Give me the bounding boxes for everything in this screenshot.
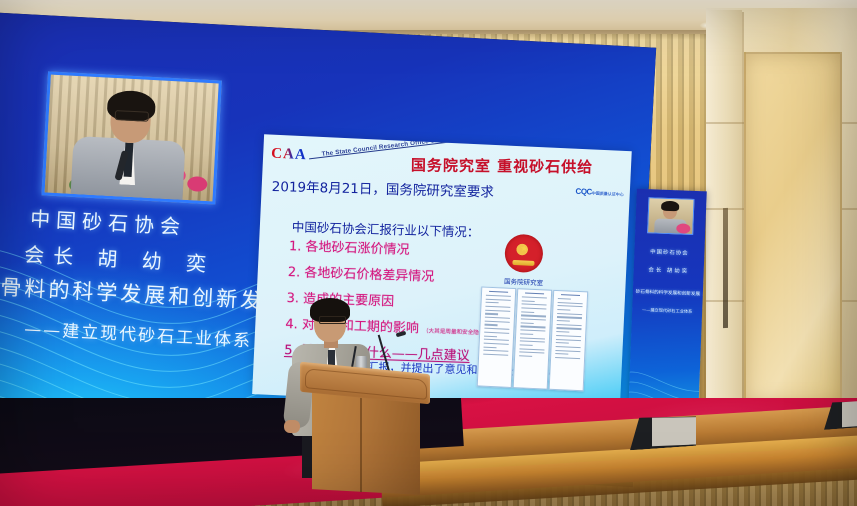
podium-body <box>312 391 420 495</box>
marble-recessed-panel <box>744 52 842 404</box>
bullet-number: 1. <box>289 239 302 254</box>
led2-speaker-title: 会长 胡幼奕 <box>634 265 704 276</box>
marble-groove <box>723 208 728 328</box>
emblem-star-icon: ★ <box>520 244 528 253</box>
document-page <box>549 290 589 392</box>
led2-topic-line: 砂石骨料的科学发展和创新发展 <box>633 289 703 298</box>
cqc-logo: CQC中国质量认证中心 <box>575 187 624 198</box>
bullet-text: 各地砂石价格差异情况 <box>304 266 434 285</box>
presenter-hand <box>284 420 300 433</box>
caa-logo: CAA <box>271 146 307 165</box>
led2-video-inset <box>647 197 694 235</box>
stage-monitor-speaker-face <box>842 400 857 428</box>
list-item: 2. 各地砂石价格差异情况 <box>288 261 508 287</box>
slide-header-chinese: 国务院究室 重视砂石供给 <box>411 154 593 177</box>
emblem-base-icon <box>513 260 534 266</box>
cqc-logo-subtext: 中国质量认证中心 <box>592 190 624 196</box>
document-page <box>513 288 553 390</box>
slide-line-1: 2019年8月21日，国务院研究室要求 <box>272 175 495 201</box>
cqc-logo-text: CQC <box>575 187 592 197</box>
conference-photo-scene: 中国砂石协会 会长 胡 幼 奕 砂石骨料的科学发展和创新发展 ——建立现代砂石工… <box>0 0 857 506</box>
document-images <box>477 286 589 389</box>
bullet-text: 各地砂石涨价情况 <box>305 240 409 258</box>
led-video-inset <box>41 71 221 204</box>
document-page <box>477 286 517 388</box>
podium <box>300 368 430 492</box>
podium-seam <box>360 398 362 492</box>
led2-subtitle-line: ——建立现代砂石工业体系 <box>632 307 702 316</box>
bullet-number: 2. <box>288 265 301 280</box>
led2-org-name: 中国砂石协会 <box>634 247 704 258</box>
national-emblem-icon: ★ <box>504 234 544 274</box>
stage-monitor-speaker-face <box>652 413 696 447</box>
glasses-icon <box>319 316 346 324</box>
